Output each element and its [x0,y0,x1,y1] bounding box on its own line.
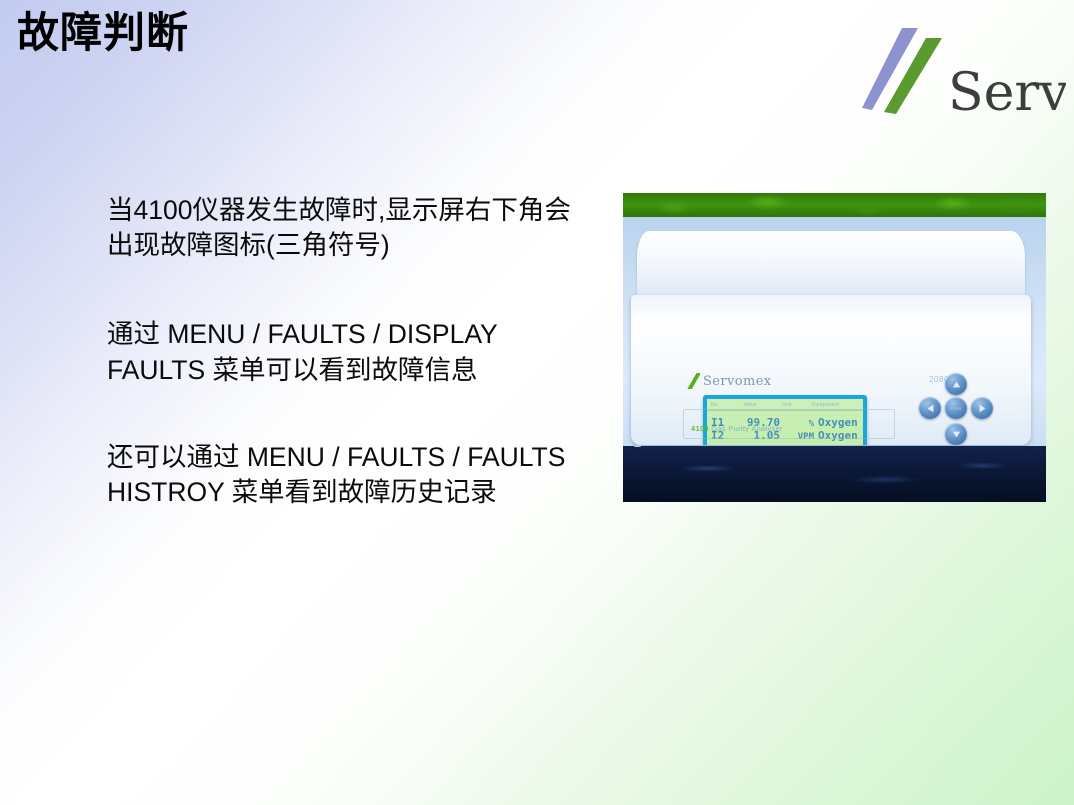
keypad-enter-button[interactable]: Enter [945,397,967,419]
photo-desk-surface [623,446,1046,502]
keypad-left-button[interactable] [919,397,941,419]
logo-wordmark: Servomex [948,63,1066,123]
arrow-right-icon [979,404,986,413]
lcd-header-value: Value [744,402,782,408]
analyser-front-panel: Servomex 2080X No. Value Unit Component [631,295,1031,445]
analyser-keypad: Enter Menu [895,371,1025,445]
body-content: 当4100仪器发生故障时,显示屏右下角会出现故障图标(三角符号) 通过 MENU… [107,193,577,510]
arrow-up-icon [952,381,961,388]
paragraph-faults-history-menu: 还可以通过 MENU / FAULTS / FAULTS HISTROY 菜单看… [107,440,577,510]
lcd-header-unit: Unit [782,402,812,408]
slide: 故障判断 Servomex 当4100仪器发生故障时,显示屏右下角会出现故障图标… [0,0,1074,805]
paragraph-display-faults-menu: 通过 MENU / FAULTS / DISPLAY FAULTS 菜单可以看到… [107,317,577,387]
analyser-top-cover [637,231,1025,305]
analyser-brand-slash-icon [687,373,700,389]
analyser-brand: Servomex [687,373,772,389]
paragraph-fault-icon: 当4100仪器发生故障时,显示屏右下角会出现故障图标(三角符号) [107,193,577,263]
servomex-logo: Servomex [776,22,1066,132]
keypad-right-button[interactable] [971,397,993,419]
analyser-caption: 4100 Gas Purity Analyser [691,424,783,433]
analyser-photo: Servomex 2080X No. Value Unit Component [623,193,1046,502]
arrow-down-icon [952,431,961,438]
arrow-left-icon [927,404,934,413]
page-title: 故障判断 [17,8,189,58]
keypad-enter-label: Enter [950,406,962,411]
lcd-header-component: Component [812,402,859,408]
analyser-unit: Servomex 2080X No. Value Unit Component [631,231,1031,449]
analyser-caption-number: 4100 [691,424,709,433]
analyser-brand-name: Servomex [703,374,772,389]
keypad-up-button[interactable] [945,373,967,395]
photo-grass-background [623,193,1046,219]
keypad-down-button[interactable] [945,423,967,445]
lcd-header-no: No. [711,402,744,408]
analyser-caption-text: Gas Purity Analyser [711,424,783,433]
